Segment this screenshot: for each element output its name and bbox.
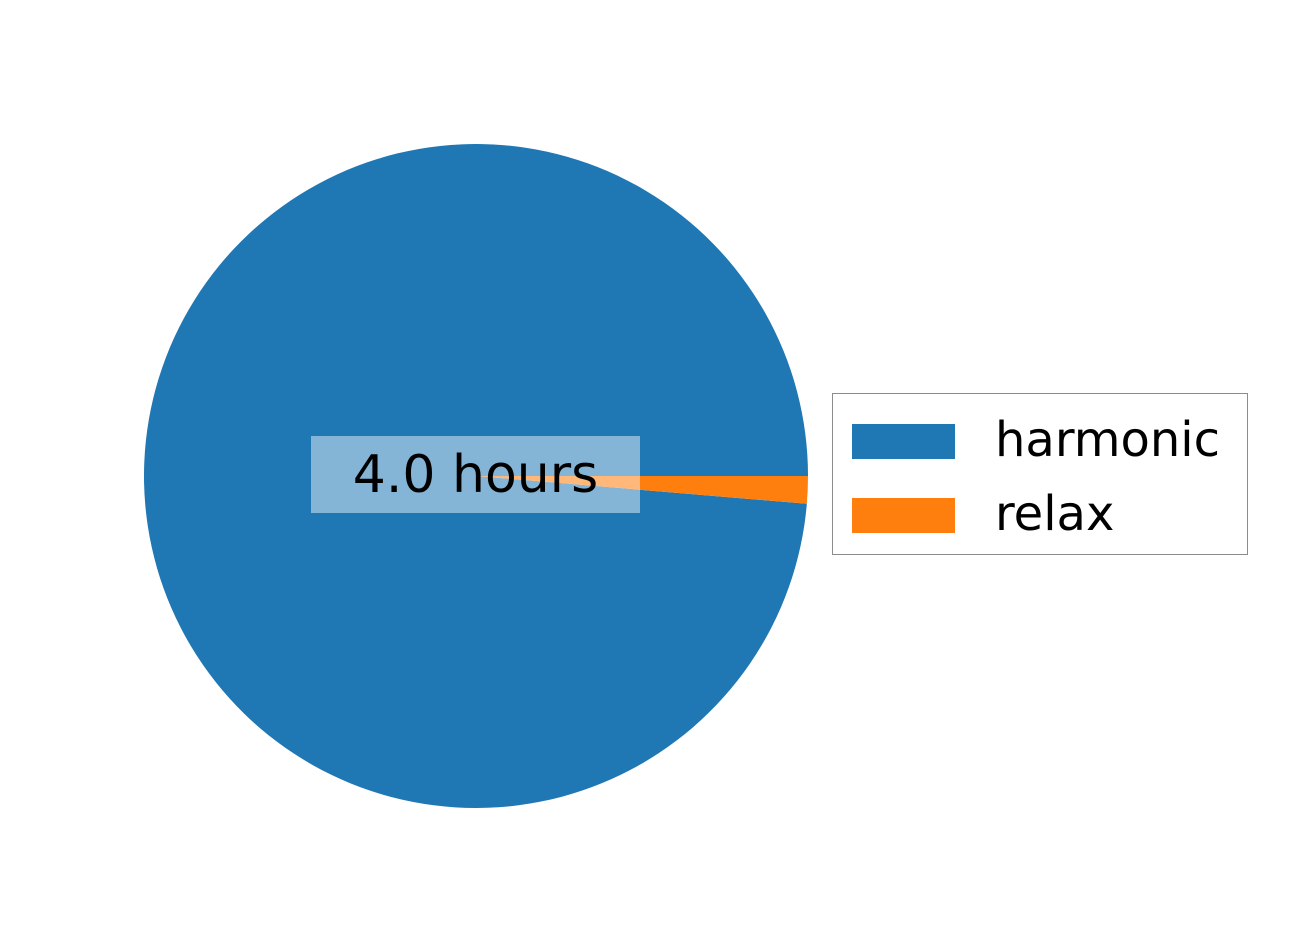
legend-label-relax: relax: [995, 490, 1114, 538]
legend-entry-harmonic[interactable]: harmonic: [852, 418, 1220, 464]
legend-swatch-harmonic-icon: [852, 424, 955, 459]
pie-chart-figure: 4.0 hours harmonic relax: [0, 0, 1307, 951]
legend: harmonic relax: [832, 393, 1248, 555]
legend-entries: harmonic relax: [833, 394, 1247, 554]
legend-entry-relax[interactable]: relax: [852, 492, 1114, 538]
legend-swatch-relax-icon: [852, 498, 955, 533]
pie-slice-label: 4.0 hours: [311, 436, 640, 513]
pie-slice-label-text: 4.0 hours: [353, 449, 598, 501]
legend-label-harmonic: harmonic: [995, 416, 1220, 464]
